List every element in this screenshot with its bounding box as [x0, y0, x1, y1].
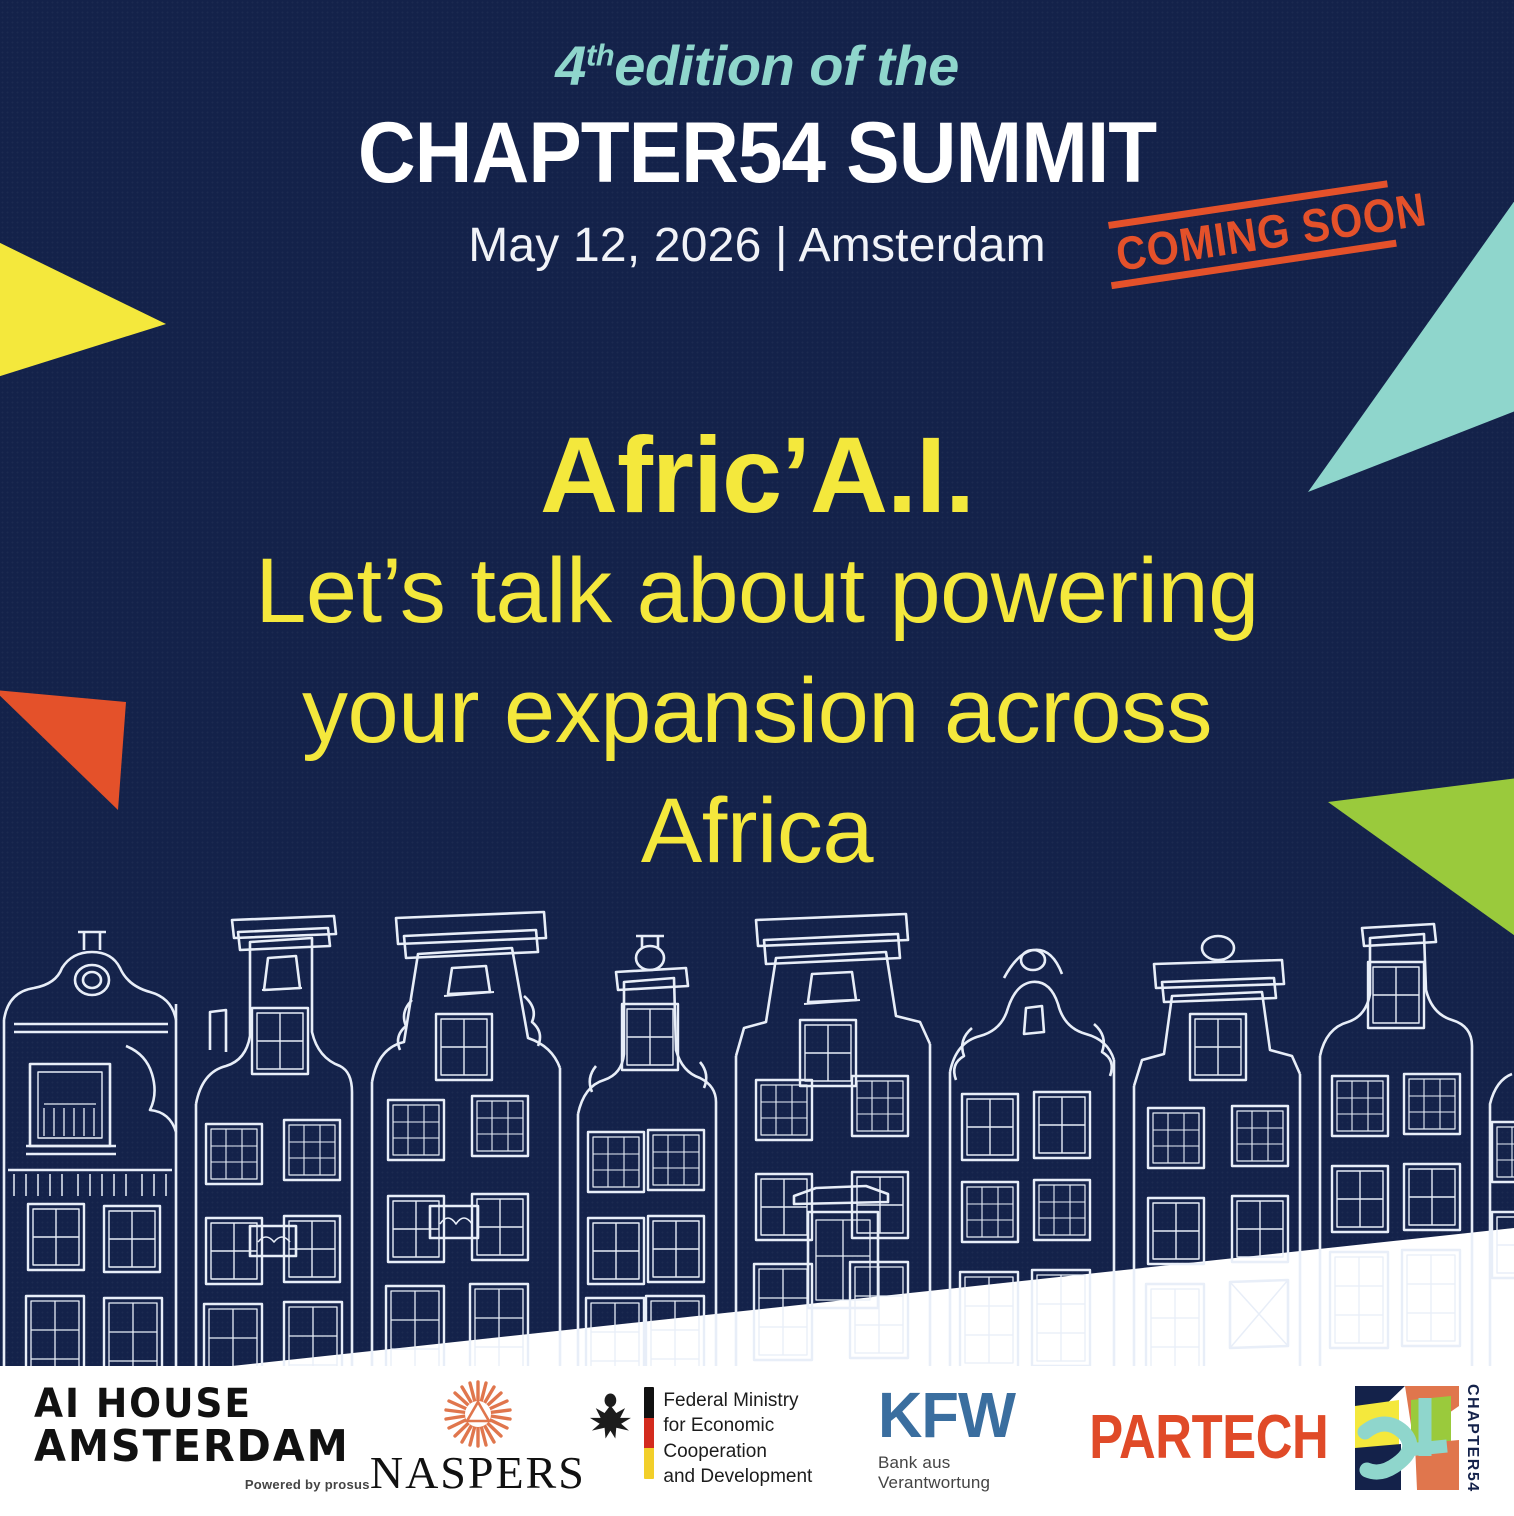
logo-federal-ministry: Federal Ministry for Economic Cooperatio… [586, 1387, 878, 1489]
logo-ai-house-amsterdam: AI HOUSE AMSTERDAM Powered by prosus [34, 1384, 370, 1492]
logo-kfw: KFW Bank aus Verantwortung [878, 1383, 1063, 1493]
ministry-line-1: Federal Ministry [663, 1388, 878, 1413]
logo-chapter54: CHAPTER54 [1355, 1384, 1480, 1493]
chapter54-mark-icon [1355, 1386, 1459, 1490]
poster: 4thedition of the CHAPTER54 SUMMIT May 1… [0, 0, 1514, 1516]
ministry-line-3: and Development [663, 1464, 878, 1489]
logo-partech: PARTECH [1063, 1407, 1355, 1469]
headline-lead: Afric’A.I. [0, 418, 1514, 532]
page-title: CHAPTER54 SUMMIT [53, 110, 1461, 196]
ai-house-line-1: AI HOUSE [34, 1384, 252, 1425]
kfw-tagline: Bank aus Verantwortung [878, 1453, 1063, 1493]
partech-wordmark: PARTECH [1090, 1407, 1329, 1469]
ai-house-line-2: AMSTERDAM [34, 1425, 350, 1470]
headline: Afric’A.I. Let’s talk about powering you… [0, 418, 1514, 891]
canal-houses-illustration [0, 896, 1514, 1366]
german-flag-bar [644, 1387, 655, 1479]
edition-ordinal: th [586, 37, 614, 72]
ministry-line-2: for Economic Cooperation [663, 1413, 878, 1464]
naspers-sunburst-icon [432, 1380, 524, 1448]
headline-line-3: Africa [0, 772, 1514, 892]
kfw-wordmark: KFW [878, 1383, 1015, 1447]
federal-ministry-text: Federal Ministry for Economic Cooperatio… [663, 1387, 878, 1489]
logo-naspers: NASPERS [370, 1380, 586, 1496]
partner-logo-bar: AI HOUSE AMSTERDAM Powered by prosus [0, 1366, 1514, 1516]
headline-line-2: your expansion across [0, 652, 1514, 772]
headline-line-1: Let’s talk about powering [0, 532, 1514, 652]
chapter54-vertical-label: CHAPTER54 [1464, 1384, 1480, 1493]
naspers-wordmark: NASPERS [370, 1450, 586, 1496]
ai-house-tagline: Powered by prosus [245, 1477, 370, 1492]
edition-label: 4thedition of the [0, 38, 1514, 94]
edition-suffix: edition of the [614, 34, 959, 97]
edition-number: 4 [555, 34, 586, 97]
german-eagle-icon [586, 1387, 635, 1443]
